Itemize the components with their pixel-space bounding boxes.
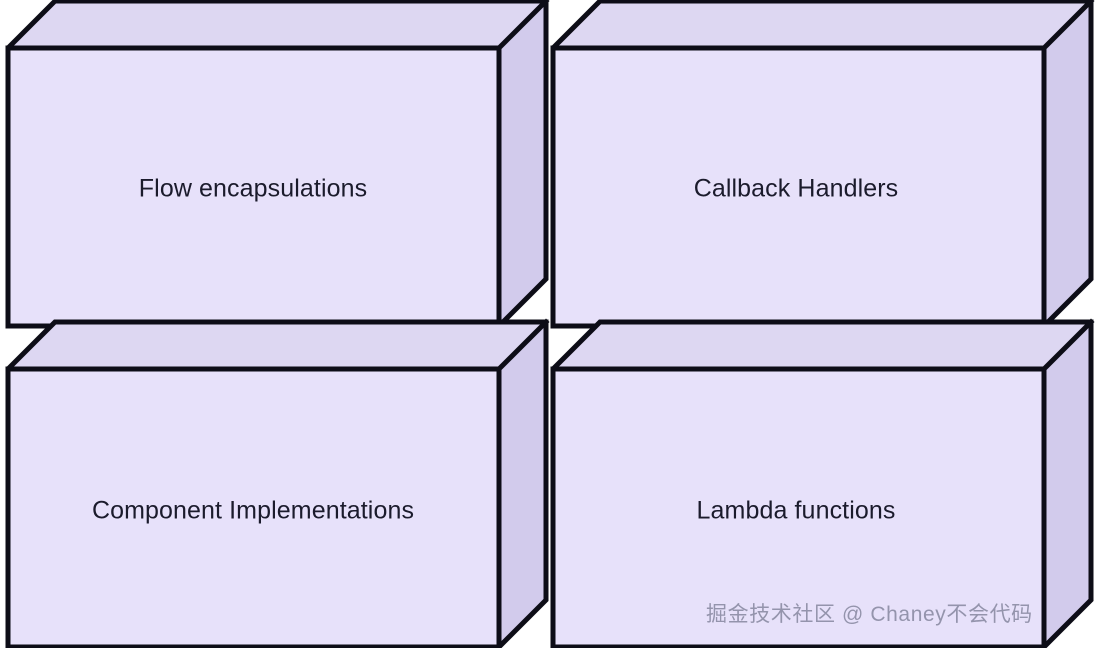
diagram-canvas: Flow encapsulations Callback Handlers Co… bbox=[0, 0, 1104, 648]
box-side-face bbox=[1044, 322, 1091, 647]
box-top-face bbox=[553, 322, 1091, 369]
box-lambda-functions[interactable] bbox=[0, 0, 1104, 648]
box-label-lambda-functions: Lambda functions bbox=[697, 497, 896, 526]
watermark-text: 掘金技术社区 @ Chaney不会代码 bbox=[706, 598, 1033, 628]
